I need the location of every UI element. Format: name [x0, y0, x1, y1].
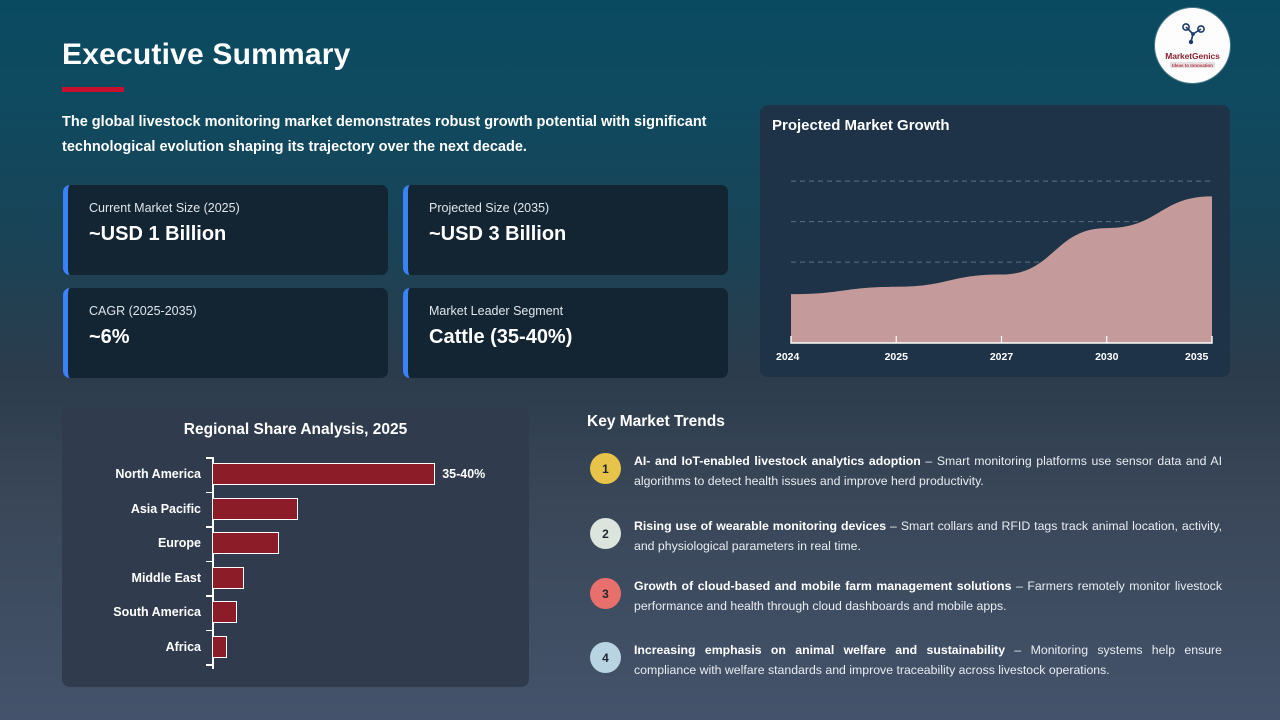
- x-axis-tick-label: 2035: [1185, 351, 1208, 363]
- projected-market-growth-chart: Projected Market Growth 2024202520272030…: [760, 105, 1230, 377]
- bar-fill: [212, 601, 237, 623]
- bar-category-label: Asia Pacific: [62, 502, 212, 516]
- page-title: Executive Summary: [62, 38, 351, 72]
- area-chart-svg: [760, 105, 1230, 377]
- trend-number-badge: 4: [590, 642, 621, 673]
- metric-value: ~6%: [89, 326, 388, 349]
- bar-fill: [212, 567, 244, 589]
- trend-item: 4Increasing emphasis on animal welfare a…: [590, 641, 1222, 680]
- logo-wordmark: MarketGenics: [1165, 51, 1220, 61]
- trend-item: 1AI- and IoT-enabled livestock analytics…: [590, 452, 1222, 491]
- metric-label: Current Market Size (2025): [89, 201, 388, 215]
- bar-fill: [212, 636, 227, 658]
- x-axis-tick-label: 2024: [776, 351, 799, 363]
- metric-value: ~USD 1 Billion: [89, 223, 388, 246]
- metric-value: ~USD 3 Billion: [429, 223, 728, 246]
- trend-heading: AI- and IoT-enabled livestock analytics …: [634, 454, 921, 468]
- bar-category-label: South America: [62, 605, 212, 619]
- bar-category-label: Africa: [62, 640, 212, 654]
- bar-category-label: Middle East: [62, 571, 212, 585]
- trend-item: 3Growth of cloud-based and mobile farm m…: [590, 577, 1222, 616]
- trend-number-badge: 3: [590, 578, 621, 609]
- bar-axis-tick: [206, 630, 213, 632]
- metric-value: Cattle (35-40%): [429, 326, 728, 349]
- metric-label: CAGR (2025-2035): [89, 304, 388, 318]
- trend-description: Increasing emphasis on animal welfare an…: [634, 641, 1222, 680]
- x-axis-tick-label: 2030: [1095, 351, 1118, 363]
- page-subtitle: The global livestock monitoring market d…: [62, 110, 722, 160]
- bar-chart-row: South America: [62, 595, 529, 629]
- trend-heading: Increasing emphasis on animal welfare an…: [634, 643, 1005, 657]
- bar-axis-tick: [206, 595, 213, 597]
- trend-number-badge: 1: [590, 453, 621, 484]
- bar-chart-row: Asia Pacific: [62, 492, 529, 526]
- trend-description: Rising use of wearable monitoring device…: [634, 517, 1222, 556]
- bar-axis-tick: [206, 561, 213, 563]
- logo-tagline: Ideas to Innovation: [1170, 62, 1215, 68]
- trend-heading: Rising use of wearable monitoring device…: [634, 519, 886, 533]
- bar-chart-row: North America35-40%: [62, 457, 529, 491]
- trend-item: 2Rising use of wearable monitoring devic…: [590, 517, 1222, 556]
- bar-chart-row: Africa: [62, 630, 529, 664]
- chart-title: Regional Share Analysis, 2025: [62, 421, 529, 439]
- bar-chart-row: Middle East: [62, 561, 529, 595]
- metric-card-cagr: CAGR (2025-2035) ~6%: [63, 288, 388, 378]
- bar-fill: [212, 532, 279, 554]
- bar-category-label: North America: [62, 467, 212, 481]
- x-axis-tick-label: 2025: [885, 351, 908, 363]
- bar-fill: [212, 498, 298, 520]
- bar-chart-rows: North America35-40%Asia PacificEuropeMid…: [62, 457, 529, 677]
- trend-heading: Growth of cloud-based and mobile farm ma…: [634, 579, 1011, 593]
- bar-category-label: Europe: [62, 536, 212, 550]
- title-underline-rule: [62, 87, 124, 92]
- company-logo: MarketGenics Ideas to Innovation: [1155, 8, 1230, 83]
- metric-card-current-market-size: Current Market Size (2025) ~USD 1 Billio…: [63, 185, 388, 275]
- x-axis-tick-label: 2027: [990, 351, 1013, 363]
- regional-share-analysis-chart: Regional Share Analysis, 2025 North Amer…: [62, 407, 529, 687]
- metric-card-projected-size: Projected Size (2035) ~USD 3 Billion: [403, 185, 728, 275]
- network-node-icon: [1180, 23, 1206, 50]
- area-series-fill: [791, 196, 1212, 343]
- metric-label: Market Leader Segment: [429, 304, 728, 318]
- bar-value-annotation: 35-40%: [442, 467, 485, 481]
- bar-axis-tick: [206, 664, 213, 666]
- bar-chart-row: Europe: [62, 526, 529, 560]
- trend-description: AI- and IoT-enabled livestock analytics …: [634, 452, 1222, 491]
- area-chart-plot: 20242025202720302035: [760, 105, 1230, 377]
- metric-card-market-leader-segment: Market Leader Segment Cattle (35-40%): [403, 288, 728, 378]
- trends-section-title: Key Market Trends: [587, 413, 725, 431]
- bar-axis-tick: [206, 457, 213, 459]
- metric-label: Projected Size (2035): [429, 201, 728, 215]
- bar-axis-tick: [206, 492, 213, 494]
- bar-fill: [212, 463, 435, 485]
- trend-description: Growth of cloud-based and mobile farm ma…: [634, 577, 1222, 616]
- bar-axis-tick: [206, 526, 213, 528]
- trend-number-badge: 2: [590, 518, 621, 549]
